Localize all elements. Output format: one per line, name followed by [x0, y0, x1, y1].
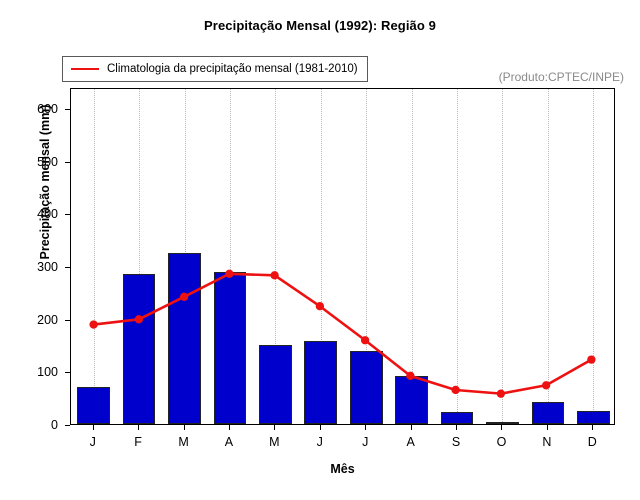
- climatology-point-5: [316, 302, 324, 310]
- x-axis-label: Mês: [70, 462, 615, 476]
- climatology-point-10: [542, 381, 550, 389]
- legend-line-swatch: [71, 68, 99, 70]
- climatology-point-11: [587, 355, 595, 363]
- climatology-point-0: [89, 320, 97, 328]
- chart-title: Precipitação Mensal (1992): Região 9: [0, 18, 640, 33]
- y-axis-label: Precipitação mensal (mm): [38, 17, 52, 347]
- y-tick-mark: [65, 162, 70, 163]
- climatology-point-7: [406, 372, 414, 380]
- plot-inner: [71, 89, 614, 424]
- x-tick-label-4: M: [254, 435, 294, 449]
- x-tick-mark: [456, 425, 457, 430]
- climatology-point-4: [270, 271, 278, 279]
- x-tick-mark: [592, 425, 593, 430]
- x-tick-label-6: J: [345, 435, 385, 449]
- y-tick-label: 0: [12, 418, 58, 432]
- x-tick-mark: [229, 425, 230, 430]
- x-tick-mark: [411, 425, 412, 430]
- y-tick-mark: [65, 425, 70, 426]
- x-tick-mark: [320, 425, 321, 430]
- y-tick-mark: [65, 267, 70, 268]
- x-tick-label-11: D: [572, 435, 612, 449]
- x-tick-label-9: O: [481, 435, 521, 449]
- climatology-point-9: [497, 389, 505, 397]
- climatology-point-8: [451, 386, 459, 394]
- plot-area: [70, 88, 615, 425]
- climatology-point-1: [135, 315, 143, 323]
- legend: Climatologia da precipitação mensal (198…: [62, 56, 368, 82]
- x-tick-mark: [501, 425, 502, 430]
- y-tick-mark: [65, 214, 70, 215]
- x-tick-mark: [93, 425, 94, 430]
- y-tick-mark: [65, 109, 70, 110]
- producer-note: (Produto:CPTEC/INPE): [499, 70, 624, 84]
- x-tick-label-2: M: [164, 435, 204, 449]
- x-tick-label-0: J: [73, 435, 113, 449]
- x-tick-label-10: N: [527, 435, 567, 449]
- x-tick-label-1: F: [118, 435, 158, 449]
- climatology-point-6: [361, 336, 369, 344]
- x-tick-label-3: A: [209, 435, 249, 449]
- x-tick-label-8: S: [436, 435, 476, 449]
- climatology-line-series: [71, 89, 614, 424]
- climatology-point-2: [180, 293, 188, 301]
- y-tick-mark: [65, 320, 70, 321]
- y-tick-label: 100: [12, 365, 58, 379]
- x-tick-mark: [184, 425, 185, 430]
- x-tick-mark: [365, 425, 366, 430]
- legend-item-label: Climatologia da precipitação mensal (198…: [107, 63, 358, 75]
- x-tick-mark: [547, 425, 548, 430]
- precipitation-chart-figure: Precipitação Mensal (1992): Região 9 010…: [0, 0, 640, 500]
- x-tick-label-5: J: [300, 435, 340, 449]
- climatology-point-3: [225, 270, 233, 278]
- y-tick-mark: [65, 372, 70, 373]
- x-tick-mark: [138, 425, 139, 430]
- climatology-polyline: [94, 274, 592, 394]
- x-tick-label-7: A: [391, 435, 431, 449]
- x-tick-mark: [274, 425, 275, 430]
